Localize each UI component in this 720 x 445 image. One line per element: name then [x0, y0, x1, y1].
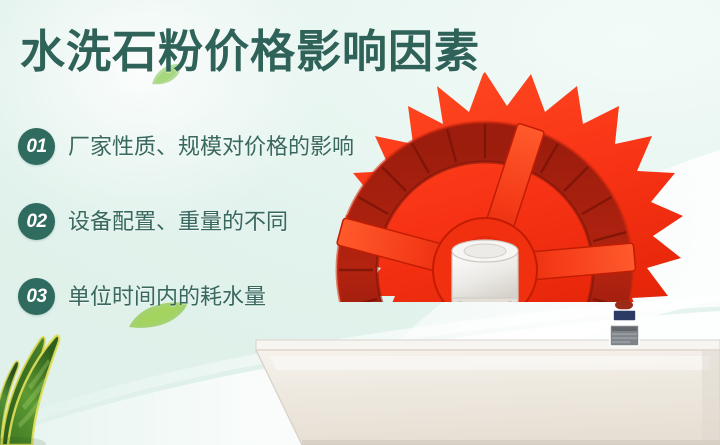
- page-title: 水洗石粉价格影响因素: [20, 26, 480, 78]
- promo-banner: 水洗石粉价格影响因素 01 厂家性质、规模对价格的影响 02 设备配置、重量的不…: [0, 0, 720, 445]
- feature-label-01: 厂家性质、规模对价格的影响: [68, 128, 354, 165]
- feature-item-02: 02 设备配置、重量的不同: [18, 203, 354, 278]
- feature-item-01: 01 厂家性质、规模对价格的影响: [18, 128, 354, 203]
- wheel-hub-bearing: [452, 240, 518, 308]
- machine-nameplate: [610, 300, 639, 346]
- feature-badge-02: 02: [18, 203, 55, 240]
- feature-badge-01: 01: [18, 128, 55, 165]
- feature-label-02: 设备配置、重量的不同: [68, 203, 288, 240]
- machine-body: [256, 340, 720, 445]
- hub-support-frame: [418, 308, 554, 343]
- snake-plant-leaf: [0, 310, 144, 445]
